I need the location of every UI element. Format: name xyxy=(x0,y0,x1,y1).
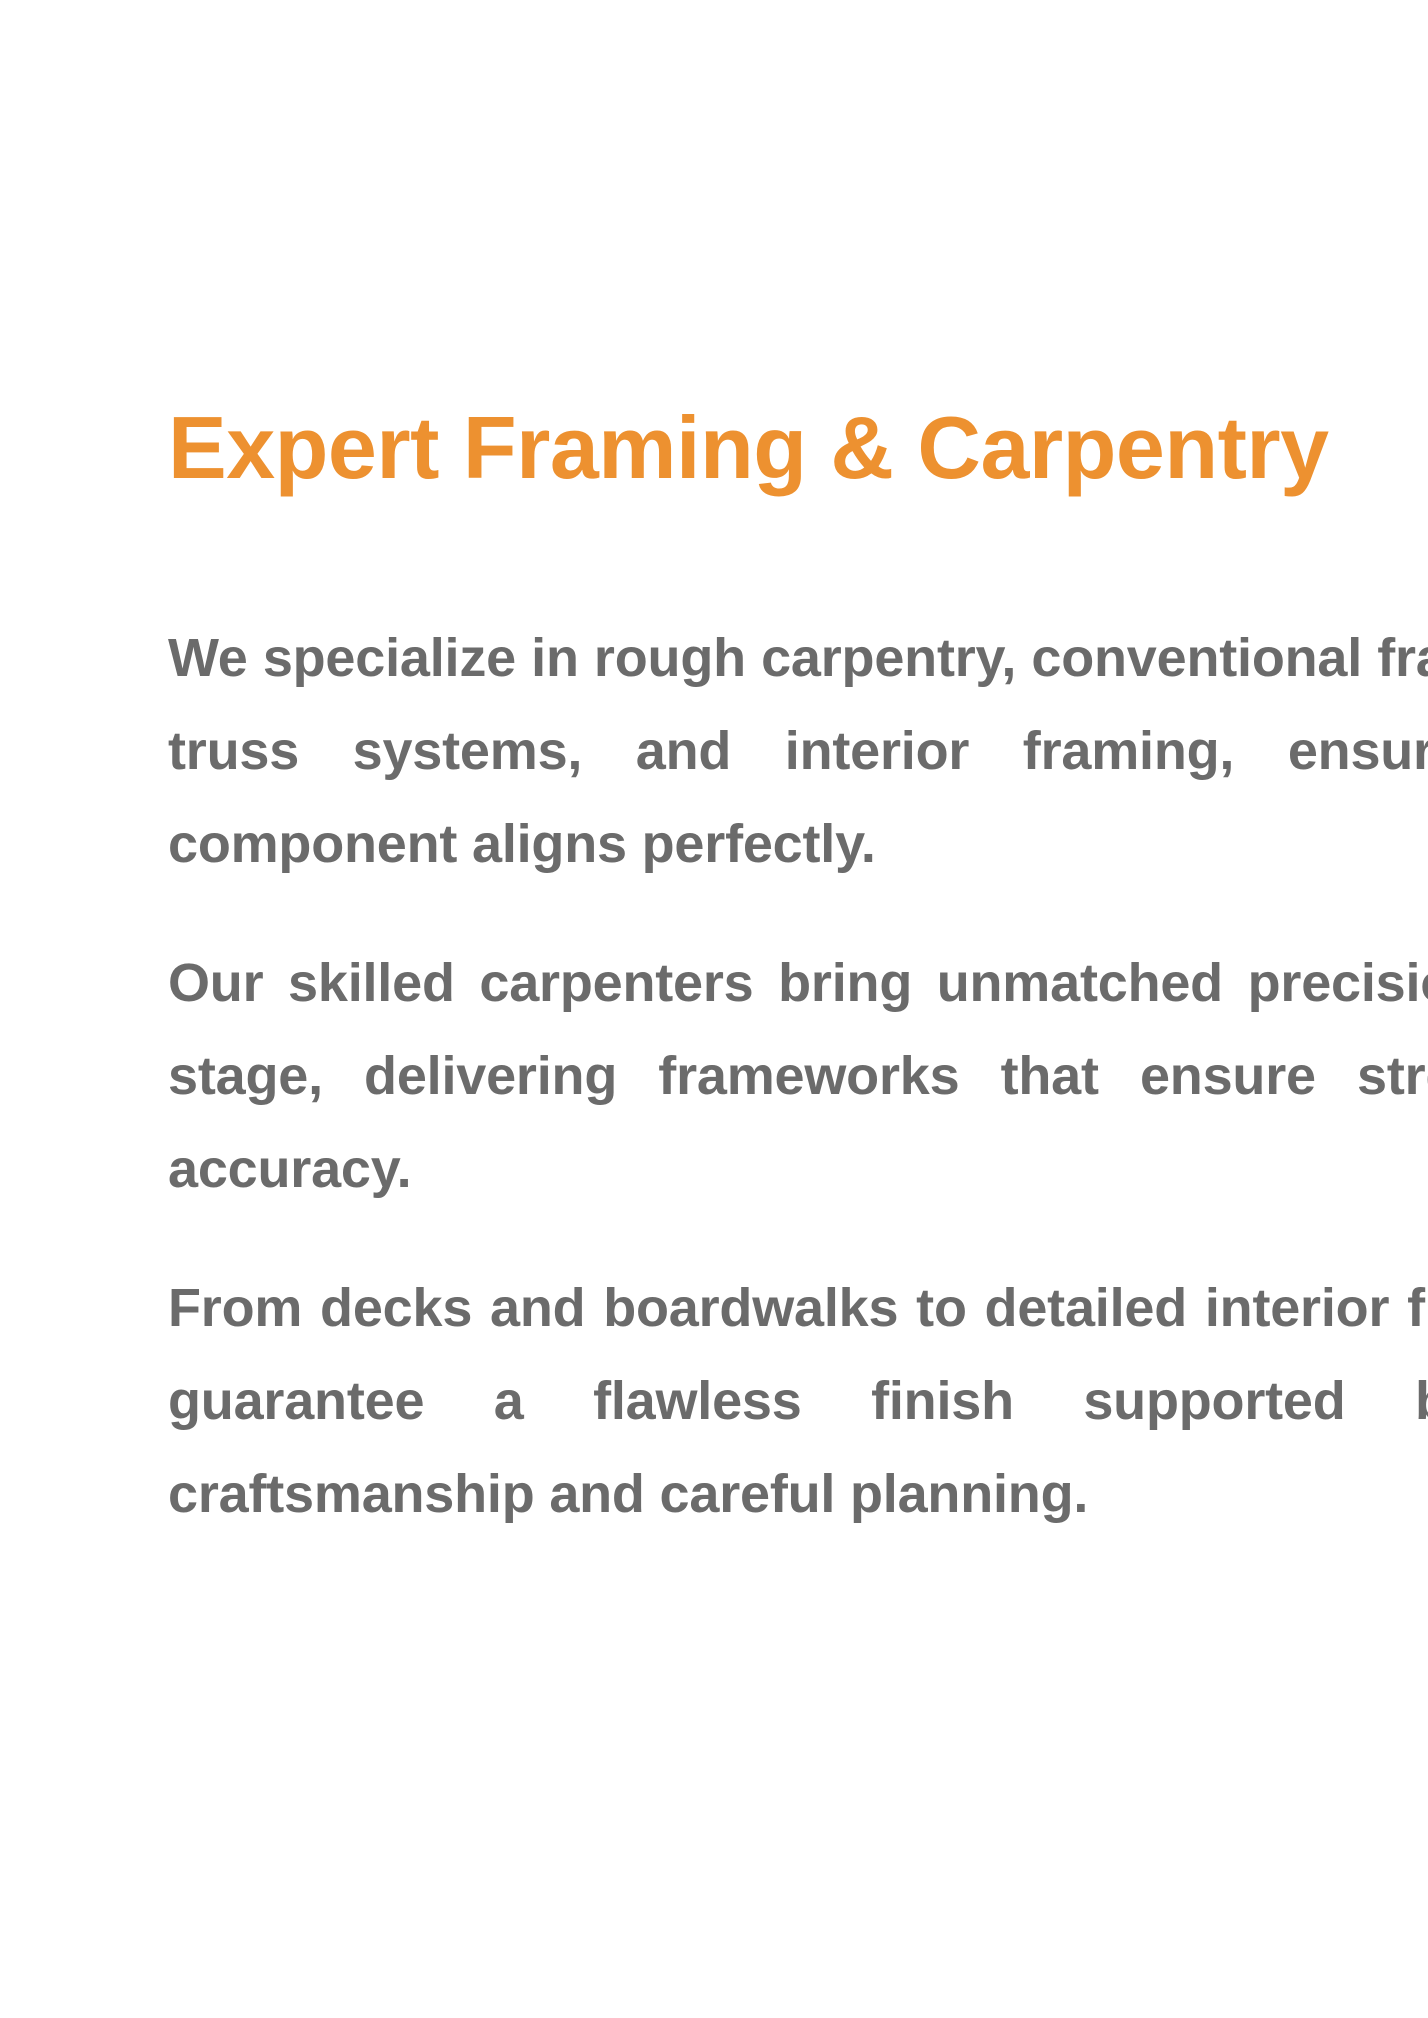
paragraph-specialization: We specialize in rough carpentry, conven… xyxy=(168,612,1428,891)
paragraph-finish: From decks and boardwalks to detailed in… xyxy=(168,1262,1428,1541)
page-title: Expert Framing & Carpentry xyxy=(168,398,1428,498)
body-copy: We specialize in rough carpentry, conven… xyxy=(168,612,1428,1541)
paragraph-precision: Our skilled carpenters bring unmatched p… xyxy=(168,937,1428,1216)
page-viewport: Expert Framing & Carpentry We specialize… xyxy=(0,0,1428,2018)
